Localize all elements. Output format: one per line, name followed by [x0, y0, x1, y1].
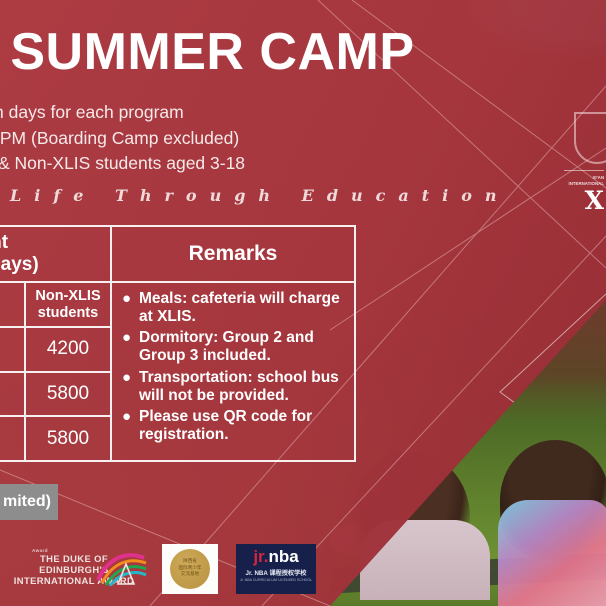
crest-letter-x: X [585, 188, 604, 213]
fee-xlis [0, 373, 26, 416]
crest-label-line1: XI'AN [592, 175, 604, 180]
fee-table: mount /ten days) s Non-XLIS students 420… [0, 225, 356, 462]
duke-of-edinburgh-logo: Award THE DUKE OF EDINBURGH'S INTERNATIO… [4, 548, 144, 590]
jr-nba-subtitle-en: Jr. NBA CURRICULUM LICENSED SCHOOL [236, 578, 316, 582]
limited-slots-note: mited) [0, 484, 58, 520]
amount-header: mount /ten days) [0, 227, 110, 283]
bullet-icon: ● [122, 369, 139, 405]
subheader-xlis-students: s [0, 283, 26, 326]
remark-text: Dormitory: Group 2 and Group 3 included. [139, 329, 346, 365]
bullet-icon: ● [122, 290, 139, 326]
fee-xlis [0, 328, 26, 371]
amount-header-line2: /ten days) [0, 254, 110, 276]
subtitle-line-3: ents & Non-XLIS students aged 3-18 [0, 151, 440, 177]
remark-text: Meals: cafeteria will charge at XLIS. [139, 290, 346, 326]
subheader-non-xlis-line2: students [35, 305, 100, 322]
list-item: ● Transportation: school bus will not be… [122, 369, 346, 405]
seal-line-3: 交流基地 [181, 572, 199, 579]
fee-non-xlis: 5800 [26, 373, 110, 416]
table-row: 4200 [0, 328, 110, 373]
page-title: 1 SUMMER CAMP [0, 26, 486, 78]
remark-text: Please use QR code for registration. [139, 408, 346, 444]
subtitle-line-1: 0, ten days for each program [0, 100, 440, 126]
jr-text: jr. [253, 547, 268, 566]
amount-header-line1: mount [0, 232, 110, 254]
child-tiedye-shirt-right [498, 500, 606, 606]
school-tagline: Life Through Education [10, 186, 585, 205]
fee-amount-column: mount /ten days) s Non-XLIS students 420… [0, 227, 112, 460]
fee-xlis [0, 417, 26, 460]
crest-divider [564, 170, 604, 171]
subtitle-line-2: -3:00PM (Boarding Camp excluded) [0, 126, 440, 152]
school-crest-logo: XI'AN INTERNATIONAL X [562, 112, 606, 216]
fee-non-xlis: 5800 [26, 417, 110, 460]
fee-subheader-row: s Non-XLIS students [0, 283, 110, 328]
seal-line-1: 陕西省 [183, 559, 197, 566]
remarks-column: Remarks ● Meals: cafeteria will charge a… [112, 227, 354, 460]
duke-swoosh-icon [96, 550, 148, 586]
subheader-non-xlis-students: Non-XLIS students [26, 283, 110, 326]
remarks-header: Remarks [112, 227, 354, 283]
provincial-exchange-base-seal: 陕西省 国际青少年 交流基地 [162, 544, 218, 594]
table-row: 5800 [0, 373, 110, 418]
subtitle-block: 0, ten days for each program -3:00PM (Bo… [0, 100, 440, 177]
list-item: ● Dormitory: Group 2 and Group 3 include… [122, 329, 346, 365]
list-item: ● Meals: cafeteria will charge at XLIS. [122, 290, 346, 326]
bullet-icon: ● [122, 329, 139, 365]
crest-shield-icon [574, 112, 606, 164]
jr-nba-subtitle-cn: Jr. NBA 课程授权学校 [236, 568, 316, 577]
jr-nba-logo: jr.nba Jr. NBA 课程授权学校 Jr. NBA CURRICULUM… [236, 544, 316, 594]
table-row: 5800 [0, 417, 110, 460]
bullet-icon: ● [122, 408, 139, 444]
remark-text: Transportation: school bus will not be p… [139, 369, 346, 405]
fee-non-xlis: 4200 [26, 328, 110, 371]
subheader-non-xlis-line1: Non-XLIS [35, 288, 100, 305]
remarks-list: ● Meals: cafeteria will charge at XLIS. … [112, 283, 354, 460]
seal-gold-circle: 陕西省 国际青少年 交流基地 [170, 549, 210, 589]
partner-logo-strip: Award THE DUKE OF EDINBURGH'S INTERNATIO… [0, 536, 330, 602]
jr-nba-wordmark: jr.nba [236, 548, 316, 565]
list-item: ● Please use QR code for registration. [122, 408, 346, 444]
nba-text: nba [268, 547, 298, 566]
